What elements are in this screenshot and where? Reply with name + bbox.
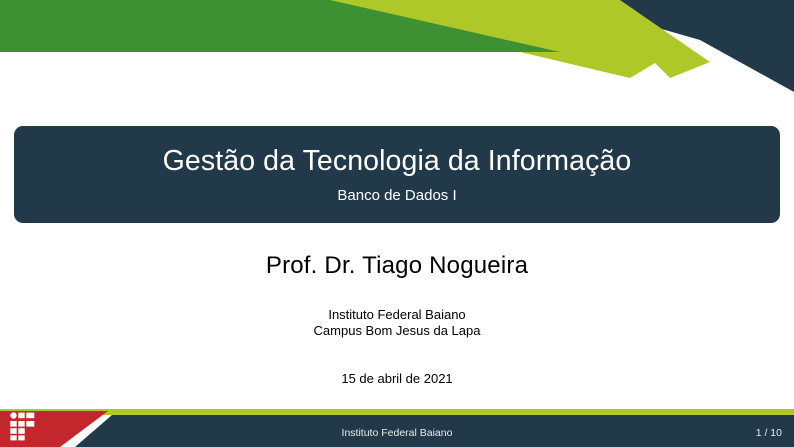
footer-navy-bar bbox=[75, 415, 794, 447]
title-block: Gestão da Tecnologia da Informação Banco… bbox=[14, 126, 780, 223]
slide-footer: Instituto Federal Baiano 1 / 10 bbox=[0, 405, 794, 447]
institute-line-1: Instituto Federal Baiano bbox=[0, 307, 794, 323]
if-institutional-logo bbox=[9, 412, 36, 441]
institute-line-2: Campus Bom Jesus da Lapa bbox=[0, 323, 794, 339]
top-decoration-banner bbox=[0, 0, 794, 92]
presentation-slide: Gestão da Tecnologia da Informação Banco… bbox=[0, 0, 794, 447]
page-subtitle: Banco de Dados I bbox=[337, 187, 456, 204]
presentation-date: 15 de abril de 2021 bbox=[0, 371, 794, 386]
institute-block: Instituto Federal Baiano Campus Bom Jesu… bbox=[0, 307, 794, 339]
page-title: Gestão da Tecnologia da Informação bbox=[163, 145, 632, 180]
author-name: Prof. Dr. Tiago Nogueira bbox=[0, 252, 794, 280]
footer-lime-strip bbox=[0, 409, 794, 415]
